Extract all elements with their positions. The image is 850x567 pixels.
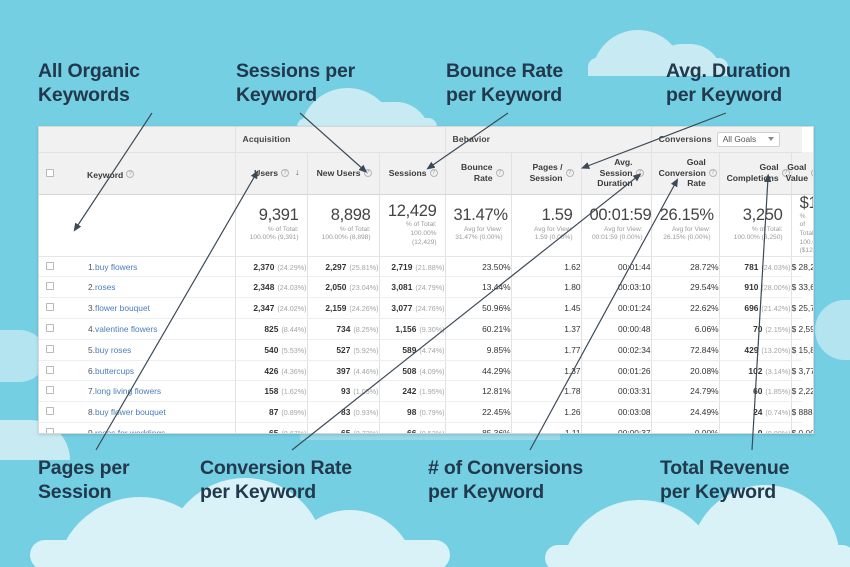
- summary-avg-session-duration-sub: Avg for View: 00:01:59 (0.00%): [590, 226, 643, 243]
- header-keyword-cell[interactable]: Keyword ?: [61, 152, 235, 194]
- row-keyword-link[interactable]: long living flowers: [95, 381, 235, 402]
- row-bounce-rate: 60.21%: [445, 319, 511, 340]
- header-label-pages-session: Pages / Session: [519, 162, 563, 183]
- row-goal-completions: 696(21.42%): [719, 298, 791, 319]
- group-label-behavior: Behavior: [446, 134, 651, 144]
- row-goal-completions: 60(1.85%): [719, 381, 791, 402]
- row-avg-session-duration: 00:01:24: [581, 298, 651, 319]
- row-new-users: 734(8.25%): [307, 319, 379, 340]
- summary-goal-conversion-rate-cell: 26.15% Avg for View: 26.15% (0.00%): [651, 194, 719, 256]
- row-bounce-rate: 85.36%: [445, 423, 511, 435]
- row-sessions: 242(1.95%): [379, 381, 445, 402]
- summary-goal-conversion-rate-sub: Avg for View: 26.15% (0.00%): [660, 226, 711, 243]
- header-select-all-cell[interactable]: [39, 152, 61, 194]
- row-index: 5.: [61, 339, 95, 360]
- row-goal-value: $ 28,297.00(24.03%): [791, 256, 802, 277]
- summary-goal-conversion-rate-value: 26.15%: [660, 207, 711, 224]
- row-checkbox[interactable]: [46, 407, 54, 415]
- help-icon[interactable]: ?: [566, 169, 574, 177]
- annotation-total-revenue-per-keyword: Total Revenue per Keyword: [660, 457, 789, 505]
- summary-pages-session-sub: Avg for View: 1.59 (0.00%): [520, 226, 573, 243]
- row-checkbox[interactable]: [46, 428, 54, 434]
- annotation-bounce-rate-per-keyword: Bounce Rate per Keyword: [446, 60, 563, 108]
- cloud-shape: [815, 300, 850, 360]
- header-avg-session-duration-cell[interactable]: Avg. Session Duration ?: [581, 152, 651, 194]
- row-goal-value: $ 15,873.00(13.20%): [791, 339, 802, 360]
- table-row[interactable]: 9.roses for weddings65(0.67%)65(0.73%)66…: [39, 423, 813, 435]
- row-keyword-link[interactable]: buy roses: [95, 339, 235, 360]
- row-users: 825(8.44%): [235, 319, 307, 340]
- row-select-cell[interactable]: [39, 339, 61, 360]
- chevron-down-icon: [768, 137, 774, 141]
- row-checkbox[interactable]: [46, 282, 54, 290]
- row-select-cell[interactable]: [39, 402, 61, 423]
- header-bounce-rate-cell[interactable]: Bounce Rate ?: [445, 152, 511, 194]
- row-goal-completions: 781(24.03%): [719, 256, 791, 277]
- row-goal-conversion-rate: 0.00%: [651, 423, 719, 435]
- summary-goal-value-value: $120,250.00: [800, 195, 805, 212]
- row-checkbox[interactable]: [46, 345, 54, 353]
- row-bounce-rate: 12.81%: [445, 381, 511, 402]
- summary-new-users-sub: % of Total: 100.00% (8,898): [316, 226, 371, 243]
- row-users: 65(0.67%): [235, 423, 307, 435]
- group-cell-conversions: Conversions All Goals: [651, 127, 802, 152]
- help-icon[interactable]: ?: [709, 169, 717, 177]
- row-new-users: 2,297(25.81%): [307, 256, 379, 277]
- annotation-sessions-per-keyword: Sessions per Keyword: [236, 60, 355, 108]
- summary-new-users-value: 8,898: [316, 207, 371, 224]
- row-bounce-rate: 23.50%: [445, 256, 511, 277]
- table-summary-row: 9,391 % of Total: 100.00% (9,391) 8,898 …: [39, 194, 813, 256]
- row-goal-conversion-rate: 22.62%: [651, 298, 719, 319]
- row-checkbox[interactable]: [46, 324, 54, 332]
- row-bounce-rate: 9.85%: [445, 339, 511, 360]
- row-goal-value: $ 25,752.00(21.42%): [791, 298, 802, 319]
- row-new-users: 83(0.93%): [307, 402, 379, 423]
- table-row[interactable]: 2.roses2,348(24.03%)2,050(23.04%)3,081(2…: [39, 277, 813, 298]
- header-new-users-cell[interactable]: New Users ?: [307, 152, 379, 194]
- table-group-header-row: Acquisition Behavior Conversions All Goa…: [39, 127, 813, 152]
- row-goal-conversion-rate: 72.84%: [651, 339, 719, 360]
- row-avg-session-duration: 00:01:44: [581, 256, 651, 277]
- row-new-users: 527(5.92%): [307, 339, 379, 360]
- goals-select-value: All Goals: [723, 134, 757, 144]
- row-sessions: 1,156(9.30%): [379, 319, 445, 340]
- help-icon[interactable]: ?: [364, 169, 372, 177]
- row-select-cell[interactable]: [39, 381, 61, 402]
- row-users: 426(4.36%): [235, 360, 307, 381]
- header-pages-session-cell[interactable]: Pages / Session ?: [511, 152, 581, 194]
- row-sessions: 98(0.79%): [379, 402, 445, 423]
- row-goal-conversion-rate: 20.08%: [651, 360, 719, 381]
- table-row[interactable]: 8.buy flower bouquet87(0.89%)83(0.93%)98…: [39, 402, 813, 423]
- help-icon[interactable]: ?: [496, 169, 504, 177]
- group-cell-blank: [39, 127, 235, 152]
- header-goal-completions-cell[interactable]: Goal Completions ?: [719, 152, 791, 194]
- row-index: 4.: [61, 319, 95, 340]
- header-goal-value-cell[interactable]: Goal Value ?: [791, 152, 813, 194]
- row-checkbox[interactable]: [46, 366, 54, 374]
- annotation-number-of-conversions-per-keyword: # of Conversions per Keyword: [428, 457, 583, 505]
- table-row[interactable]: 3.flower bouquet2,347(24.02%)2,159(24.26…: [39, 298, 813, 319]
- row-keyword-link[interactable]: roses for weddings: [95, 423, 235, 435]
- help-icon[interactable]: ?: [811, 169, 814, 177]
- row-avg-session-duration: 00:02:34: [581, 339, 651, 360]
- annotation-conversion-rate-per-keyword: Conversion Rate per Keyword: [200, 457, 352, 505]
- row-goal-value: $ 2,220.00(1.85%): [791, 381, 802, 402]
- header-users-cell[interactable]: Users ? ↓: [235, 152, 307, 194]
- row-avg-session-duration: 00:03:10: [581, 277, 651, 298]
- header-label-sessions: Sessions: [389, 168, 427, 179]
- table-row[interactable]: 7.long living flowers158(1.62%)93(1.05%)…: [39, 381, 813, 402]
- table-row[interactable]: 1.buy flowers2,370(24.29%)2,297(25.81%)2…: [39, 256, 813, 277]
- help-icon[interactable]: ?: [126, 170, 134, 178]
- row-select-cell[interactable]: [39, 423, 61, 435]
- cloud-shape: [545, 545, 850, 567]
- summary-bounce-rate-cell: 31.47% Avg for View: 31.47% (0.00%): [445, 194, 511, 256]
- row-goal-completions: 102(3.14%): [719, 360, 791, 381]
- annotation-all-organic-keywords: All Organic Keywords: [38, 60, 140, 108]
- row-select-cell[interactable]: [39, 360, 61, 381]
- row-index: 9.: [61, 423, 95, 435]
- infographic-canvas: All Organic Keywords Sessions per Keywor…: [0, 0, 850, 567]
- row-goal-completions: 0(0.00%): [719, 423, 791, 435]
- row-pages-session: 1.37: [511, 319, 581, 340]
- header-label-goal-completions: Goal Completions: [727, 162, 779, 183]
- row-goal-conversion-rate: 28.72%: [651, 256, 719, 277]
- row-avg-session-duration: 00:03:31: [581, 381, 651, 402]
- row-goal-completions: 70(2.15%): [719, 319, 791, 340]
- row-goal-conversion-rate: 29.54%: [651, 277, 719, 298]
- summary-sessions-cell: 12,429 % of Total: 100.00% (12,429): [379, 194, 445, 256]
- row-select-cell[interactable]: [39, 277, 61, 298]
- header-label-new-users: New Users: [317, 168, 361, 179]
- row-bounce-rate: 44.29%: [445, 360, 511, 381]
- row-bounce-rate: 13.44%: [445, 277, 511, 298]
- row-index: 6.: [61, 360, 95, 381]
- row-select-cell[interactable]: [39, 256, 61, 277]
- sort-descending-icon[interactable]: ↓: [295, 167, 300, 178]
- summary-goal-value-cell: $120,250.00 % of Total: 100.00% ($120,25…: [791, 194, 813, 256]
- row-sessions: 3,081(24.79%): [379, 277, 445, 298]
- row-users: 2,348(24.03%): [235, 277, 307, 298]
- table-body: 1.buy flowers2,370(24.29%)2,297(25.81%)2…: [39, 256, 813, 434]
- row-keyword-link[interactable]: buttercups: [95, 360, 235, 381]
- annotation-avg-duration-per-keyword: Avg. Duration per Keyword: [666, 60, 791, 108]
- row-index: 2.: [61, 277, 95, 298]
- group-cell-acquisition: Acquisition: [235, 127, 445, 152]
- table-column-header-row: Keyword ? Users ? ↓ New Users ?: [39, 152, 813, 194]
- row-goal-value: $ 3,774.00(3.14%): [791, 360, 802, 381]
- row-checkbox[interactable]: [46, 303, 54, 311]
- row-index: 1.: [61, 256, 95, 277]
- summary-goal-value-sub: % of Total: 100.00% ($120,250.00): [800, 213, 805, 256]
- row-sessions: 2,719(21.88%): [379, 256, 445, 277]
- header-goal-conversion-rate-cell[interactable]: Goal Conversion Rate ?: [651, 152, 719, 194]
- row-new-users: 2,050(23.04%): [307, 277, 379, 298]
- row-pages-session: 1.11: [511, 423, 581, 435]
- header-label-bounce-rate: Bounce Rate: [453, 162, 493, 183]
- row-new-users: 397(4.46%): [307, 360, 379, 381]
- row-pages-session: 1.62: [511, 256, 581, 277]
- row-users: 87(0.89%): [235, 402, 307, 423]
- summary-bounce-rate-value: 31.47%: [454, 207, 503, 224]
- group-cell-behavior: Behavior: [445, 127, 651, 152]
- row-goal-value: $ 888.00(0.74%): [791, 402, 802, 423]
- summary-goal-completions-value: 3,250: [728, 207, 783, 224]
- summary-avg-session-duration-cell: 00:01:59 Avg for View: 00:01:59 (0.00%): [581, 194, 651, 256]
- summary-sessions-value: 12,429: [388, 203, 437, 220]
- row-keyword-link[interactable]: buy flowers: [95, 256, 235, 277]
- row-checkbox[interactable]: [46, 262, 54, 270]
- row-goal-conversion-rate: 6.06%: [651, 319, 719, 340]
- header-sessions-cell[interactable]: Sessions ?: [379, 152, 445, 194]
- table-row[interactable]: 4.valentine flowers825(8.44%)734(8.25%)1…: [39, 319, 813, 340]
- row-goal-conversion-rate: 24.79%: [651, 381, 719, 402]
- cloud-shape: [30, 540, 450, 567]
- select-all-checkbox[interactable]: [46, 169, 54, 177]
- summary-bounce-rate-sub: Avg for View: 31.47% (0.00%): [454, 226, 503, 243]
- summary-users-cell: 9,391 % of Total: 100.00% (9,391): [235, 194, 307, 256]
- summary-goal-completions-sub: % of Total: 100.00% (3,250): [728, 226, 783, 243]
- help-icon[interactable]: ?: [430, 169, 438, 177]
- row-new-users: 93(1.05%): [307, 381, 379, 402]
- row-users: 158(1.62%): [235, 381, 307, 402]
- header-label-users: Users: [254, 168, 278, 179]
- row-pages-session: 1.78: [511, 381, 581, 402]
- row-avg-session-duration: 00:00:37: [581, 423, 651, 435]
- row-keyword-link[interactable]: valentine flowers: [95, 319, 235, 340]
- header-label-goal-conversion-rate: Goal Conversion Rate: [659, 157, 706, 189]
- row-goal-value: $ 0.00(0.00%): [791, 423, 802, 435]
- row-new-users: 65(0.73%): [307, 423, 379, 435]
- row-goal-conversion-rate: 24.49%: [651, 402, 719, 423]
- row-goal-completions: 24(0.74%): [719, 402, 791, 423]
- summary-users-sub: % of Total: 100.00% (9,391): [244, 226, 299, 243]
- row-sessions: 66(0.53%): [379, 423, 445, 435]
- summary-blank-cell: [39, 194, 235, 256]
- row-avg-session-duration: 00:01:26: [581, 360, 651, 381]
- summary-users-value: 9,391: [244, 207, 299, 224]
- help-icon[interactable]: ?: [281, 169, 289, 177]
- row-goal-completions: 910(28.00%): [719, 277, 791, 298]
- summary-avg-session-duration-value: 00:01:59: [590, 207, 643, 224]
- row-bounce-rate: 50.96%: [445, 298, 511, 319]
- group-label-acquisition: Acquisition: [236, 134, 445, 144]
- table-row[interactable]: 6.buttercups426(4.36%)397(4.46%)508(4.09…: [39, 360, 813, 381]
- row-index: 3.: [61, 298, 95, 319]
- row-keyword-link[interactable]: roses: [95, 277, 235, 298]
- annotation-pages-per-session: Pages per Session: [38, 457, 129, 505]
- row-new-users: 2,159(24.26%): [307, 298, 379, 319]
- row-sessions: 508(4.09%): [379, 360, 445, 381]
- summary-pages-session-value: 1.59: [520, 207, 573, 224]
- row-pages-session: 1.80: [511, 277, 581, 298]
- row-select-cell[interactable]: [39, 319, 61, 340]
- row-select-cell[interactable]: [39, 298, 61, 319]
- row-index: 8.: [61, 402, 95, 423]
- row-avg-session-duration: 00:03:08: [581, 402, 651, 423]
- row-pages-session: 1.26: [511, 402, 581, 423]
- row-goal-completions: 429(13.20%): [719, 339, 791, 360]
- google-analytics-report-table[interactable]: Acquisition Behavior Conversions All Goa…: [38, 126, 814, 434]
- summary-pages-session-cell: 1.59 Avg for View: 1.59 (0.00%): [511, 194, 581, 256]
- row-checkbox[interactable]: [46, 386, 54, 394]
- row-sessions: 589(4.74%): [379, 339, 445, 360]
- row-pages-session: 1.77: [511, 339, 581, 360]
- summary-goal-completions-cell: 3,250 % of Total: 100.00% (3,250): [719, 194, 791, 256]
- summary-sessions-sub: % of Total: 100.00% (12,429): [388, 221, 437, 247]
- table-row[interactable]: 5.buy roses540(5.53%)527(5.92%)589(4.74%…: [39, 339, 813, 360]
- row-keyword-link[interactable]: buy flower bouquet: [95, 402, 235, 423]
- header-label-goal-value: Goal Value: [786, 162, 808, 183]
- summary-new-users-cell: 8,898 % of Total: 100.00% (8,898): [307, 194, 379, 256]
- row-goal-value: $ 33,670.00(28.00%): [791, 277, 802, 298]
- row-pages-session: 1.37: [511, 360, 581, 381]
- help-icon[interactable]: ?: [636, 169, 644, 177]
- row-avg-session-duration: 00:00:48: [581, 319, 651, 340]
- header-label-avg-session-duration: Avg. Session Duration: [589, 157, 633, 189]
- row-users: 540(5.53%): [235, 339, 307, 360]
- row-users: 2,370(24.29%): [235, 256, 307, 277]
- row-goal-value: $ 2,590.00(2.15%): [791, 319, 802, 340]
- goals-select[interactable]: All Goals: [717, 132, 781, 147]
- row-users: 2,347(24.02%): [235, 298, 307, 319]
- row-keyword-link[interactable]: flower bouquet: [95, 298, 235, 319]
- header-label-keyword: Keyword: [87, 170, 123, 181]
- row-index: 7.: [61, 381, 95, 402]
- row-bounce-rate: 22.45%: [445, 402, 511, 423]
- row-sessions: 3,077(24.76%): [379, 298, 445, 319]
- row-pages-session: 1.45: [511, 298, 581, 319]
- group-label-conversions: Conversions: [659, 134, 712, 144]
